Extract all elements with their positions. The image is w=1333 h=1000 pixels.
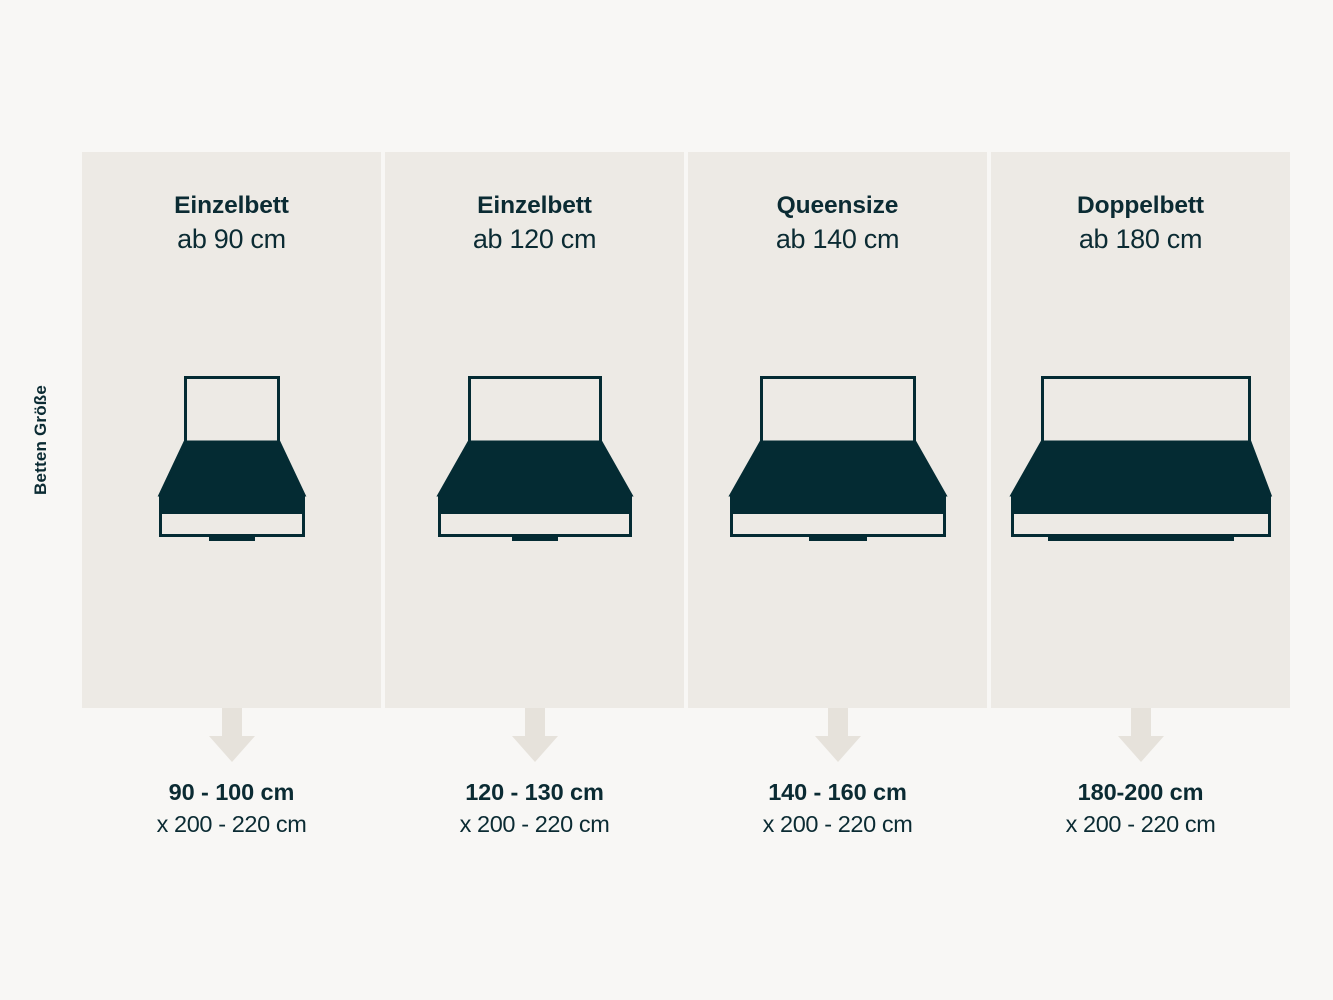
bed-illustration-wrap-3 (688, 370, 987, 550)
bed-illustration-wrap-1 (82, 370, 381, 550)
arrow-head (815, 736, 861, 762)
column-title-2: Einzelbett (385, 192, 684, 219)
size-columns-strip: Einzelbett ab 90 cm Einzelbett ab 120 cm (82, 152, 1290, 708)
axis-label-container: Betten Größe (0, 0, 82, 1000)
dimension-width-1: 90 - 100 cm (82, 778, 381, 807)
arrows-strip (82, 708, 1290, 770)
column-title-1: Einzelbett (82, 192, 381, 219)
dimension-caption-4: 180-200 cm x 200 - 220 cm (991, 778, 1290, 878)
column-title-4: Doppelbett (991, 192, 1290, 219)
dimension-length-4: x 200 - 220 cm (991, 807, 1290, 841)
bed-illustration-wrap-2 (385, 370, 684, 550)
size-column-2: Einzelbett ab 120 cm (385, 152, 684, 708)
bed-illustration-wrap-4 (991, 370, 1290, 550)
arrow-shaft (222, 708, 242, 738)
down-arrow-icon-4 (1118, 708, 1164, 762)
down-arrow-icon-3 (815, 708, 861, 762)
arrow-cell-3 (688, 708, 987, 770)
dimension-width-3: 140 - 160 cm (688, 778, 987, 807)
down-arrow-icon-2 (512, 708, 558, 762)
dimension-captions-strip: 90 - 100 cm x 200 - 220 cm 120 - 130 cm … (82, 778, 1290, 878)
arrow-cell-1 (82, 708, 381, 770)
column-subtitle-4: ab 180 cm (991, 219, 1290, 260)
arrow-head (512, 736, 558, 762)
arrow-shaft (1131, 708, 1151, 738)
arrow-shaft (525, 708, 545, 738)
dimension-length-3: x 200 - 220 cm (688, 807, 987, 841)
bed-icon-single-90 (153, 370, 311, 550)
arrow-cell-2 (385, 708, 684, 770)
column-header-4: Doppelbett ab 180 cm (991, 192, 1290, 260)
axis-label-betten-groesse: Betten Größe (31, 385, 51, 495)
dimension-caption-1: 90 - 100 cm x 200 - 220 cm (82, 778, 381, 878)
dimension-width-2: 120 - 130 cm (385, 778, 684, 807)
bed-icon-single-120 (432, 370, 638, 550)
arrow-head (1118, 736, 1164, 762)
down-arrow-icon-1 (209, 708, 255, 762)
arrow-shaft (828, 708, 848, 738)
column-header-3: Queensize ab 140 cm (688, 192, 987, 260)
bed-icon-queen-140 (724, 370, 952, 550)
column-subtitle-1: ab 90 cm (82, 219, 381, 260)
column-title-3: Queensize (688, 192, 987, 219)
arrow-cell-4 (991, 708, 1290, 770)
dimension-length-1: x 200 - 220 cm (82, 807, 381, 841)
column-subtitle-3: ab 140 cm (688, 219, 987, 260)
bed-icon-double-180 (1005, 370, 1277, 550)
column-header-1: Einzelbett ab 90 cm (82, 192, 381, 260)
arrow-head (209, 736, 255, 762)
dimension-caption-2: 120 - 130 cm x 200 - 220 cm (385, 778, 684, 878)
size-column-3: Queensize ab 140 cm (688, 152, 987, 708)
dimension-caption-3: 140 - 160 cm x 200 - 220 cm (688, 778, 987, 878)
size-column-4: Doppelbett ab 180 cm (991, 152, 1290, 708)
dimension-length-2: x 200 - 220 cm (385, 807, 684, 841)
column-header-2: Einzelbett ab 120 cm (385, 192, 684, 260)
column-subtitle-2: ab 120 cm (385, 219, 684, 260)
dimension-width-4: 180-200 cm (991, 778, 1290, 807)
size-column-1: Einzelbett ab 90 cm (82, 152, 381, 708)
